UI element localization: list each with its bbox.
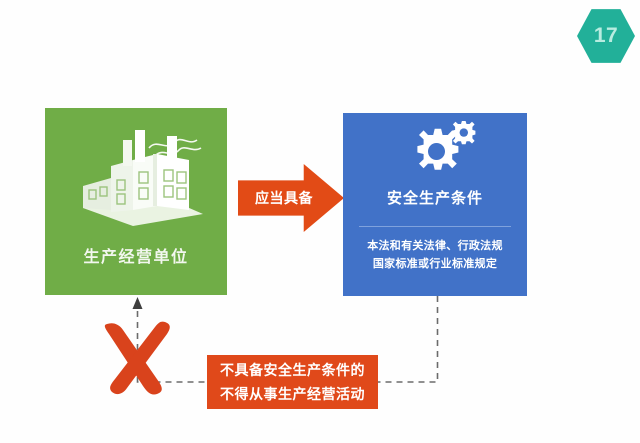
banner-line-1: 不具备安全生产条件的: [220, 358, 365, 382]
orange-right-arrow[interactable]: 应当具备: [238, 164, 344, 232]
factory-icon: [71, 122, 213, 234]
page-number-label: 17: [577, 8, 635, 64]
page-number-badge: 17: [577, 8, 635, 64]
blue-card-sublines: 本法和有关法律、行政法规 国家标准或行业标准规定: [343, 237, 527, 273]
green-card-production-entity[interactable]: 生产经营单位: [45, 108, 227, 295]
red-prohibition-banner[interactable]: 不具备安全生产条件的 不得从事生产经营活动: [207, 355, 378, 409]
up-arrow-icon: [133, 297, 143, 309]
slide-canvas: 17: [0, 0, 640, 443]
blue-card-divider: [359, 226, 511, 227]
blue-card-subline-2: 国家标准或行业标准规定: [343, 255, 527, 273]
banner-line-2: 不得从事生产经营活动: [220, 382, 365, 406]
arrow-label: 应当具备: [242, 164, 326, 232]
blue-card-safety-conditions[interactable]: 安全生产条件 本法和有关法律、行政法规 国家标准或行业标准规定: [343, 113, 527, 296]
blue-card-title: 安全生产条件: [343, 187, 527, 208]
gears-icon: [395, 121, 479, 183]
red-x-icon: [103, 318, 175, 396]
green-card-label: 生产经营单位: [45, 243, 227, 267]
blue-card-subline-1: 本法和有关法律、行政法规: [343, 237, 527, 255]
